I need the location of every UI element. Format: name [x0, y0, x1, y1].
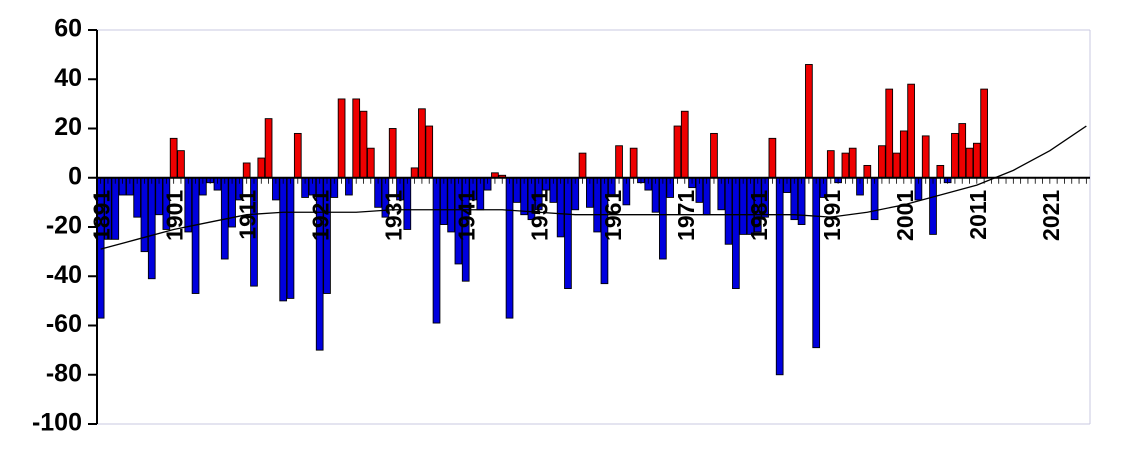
x-tick-label: 1941	[454, 190, 480, 241]
x-tick-label: 1921	[308, 190, 334, 241]
bar	[170, 138, 177, 177]
y-tick-label: 60	[54, 15, 82, 43]
bar	[440, 178, 447, 225]
bar	[981, 89, 988, 178]
bar	[806, 64, 813, 177]
bar	[367, 148, 374, 178]
bar	[419, 109, 426, 178]
bar	[973, 143, 980, 177]
bar	[630, 148, 637, 178]
bar	[506, 178, 513, 318]
y-tick-label: -40	[46, 261, 82, 289]
bar	[930, 178, 937, 235]
y-tick-label: -20	[46, 212, 82, 240]
bar	[966, 148, 973, 178]
bar	[893, 153, 900, 178]
bar	[959, 124, 966, 178]
x-tick-label: 1891	[89, 190, 115, 241]
bar	[579, 153, 586, 178]
bar	[937, 165, 944, 177]
bar	[711, 133, 718, 177]
bar	[389, 129, 396, 178]
bar	[871, 178, 878, 220]
y-tick-label: 20	[54, 113, 82, 141]
bar	[360, 111, 367, 177]
bar	[258, 158, 265, 178]
bar	[849, 148, 856, 178]
bar	[952, 133, 959, 177]
bar	[659, 178, 666, 259]
x-tick-label: 1971	[673, 190, 699, 241]
x-tick-label: 2021	[1038, 190, 1064, 241]
bar	[178, 151, 185, 178]
bar	[769, 138, 776, 177]
bar	[243, 163, 250, 178]
y-tick-label: -60	[46, 310, 82, 338]
x-tick-label: 1911	[235, 190, 261, 240]
bar-chart: 6040200-20-40-60-80-100 1891190119111921…	[0, 0, 1129, 452]
bar	[280, 178, 287, 301]
bar	[294, 133, 301, 177]
y-tick-label: 0	[68, 162, 82, 190]
bar	[791, 178, 798, 220]
bar	[192, 178, 199, 294]
x-tick-label: 1961	[600, 190, 626, 241]
bar	[426, 126, 433, 178]
bar	[886, 89, 893, 178]
bar	[681, 111, 688, 177]
bar	[674, 126, 681, 178]
bar	[827, 151, 834, 178]
bar	[433, 178, 440, 323]
bar	[616, 146, 623, 178]
x-tick-label: 1981	[746, 190, 772, 241]
y-axis-tick-labels: 6040200-20-40-60-80-100	[32, 15, 82, 437]
chart-container: 6040200-20-40-60-80-100 1891190119111921…	[0, 0, 1129, 452]
bar	[908, 84, 915, 178]
bar	[864, 165, 871, 177]
y-tick-label: -100	[32, 409, 82, 437]
x-tick-label: 1951	[527, 190, 553, 241]
bar	[725, 178, 732, 244]
y-tick-label: 40	[54, 64, 82, 92]
x-tick-label: 1991	[819, 190, 845, 241]
bar	[353, 99, 360, 178]
bar	[879, 146, 886, 178]
bar	[776, 178, 783, 375]
y-tick-label: -80	[46, 359, 82, 387]
bar	[900, 131, 907, 178]
bar	[842, 153, 849, 178]
x-tick-label: 1931	[381, 190, 407, 241]
bar	[338, 99, 345, 178]
bar	[798, 178, 805, 225]
bar	[411, 168, 418, 178]
bar	[148, 178, 155, 279]
bar	[732, 178, 739, 289]
bar	[922, 136, 929, 178]
bar	[141, 178, 148, 252]
x-tick-label: 1901	[162, 190, 188, 241]
x-tick-label: 2011	[965, 190, 991, 240]
x-tick-label: 2001	[892, 190, 918, 241]
bar	[557, 178, 564, 237]
bar	[565, 178, 572, 289]
bar	[265, 119, 272, 178]
bar	[287, 178, 294, 299]
